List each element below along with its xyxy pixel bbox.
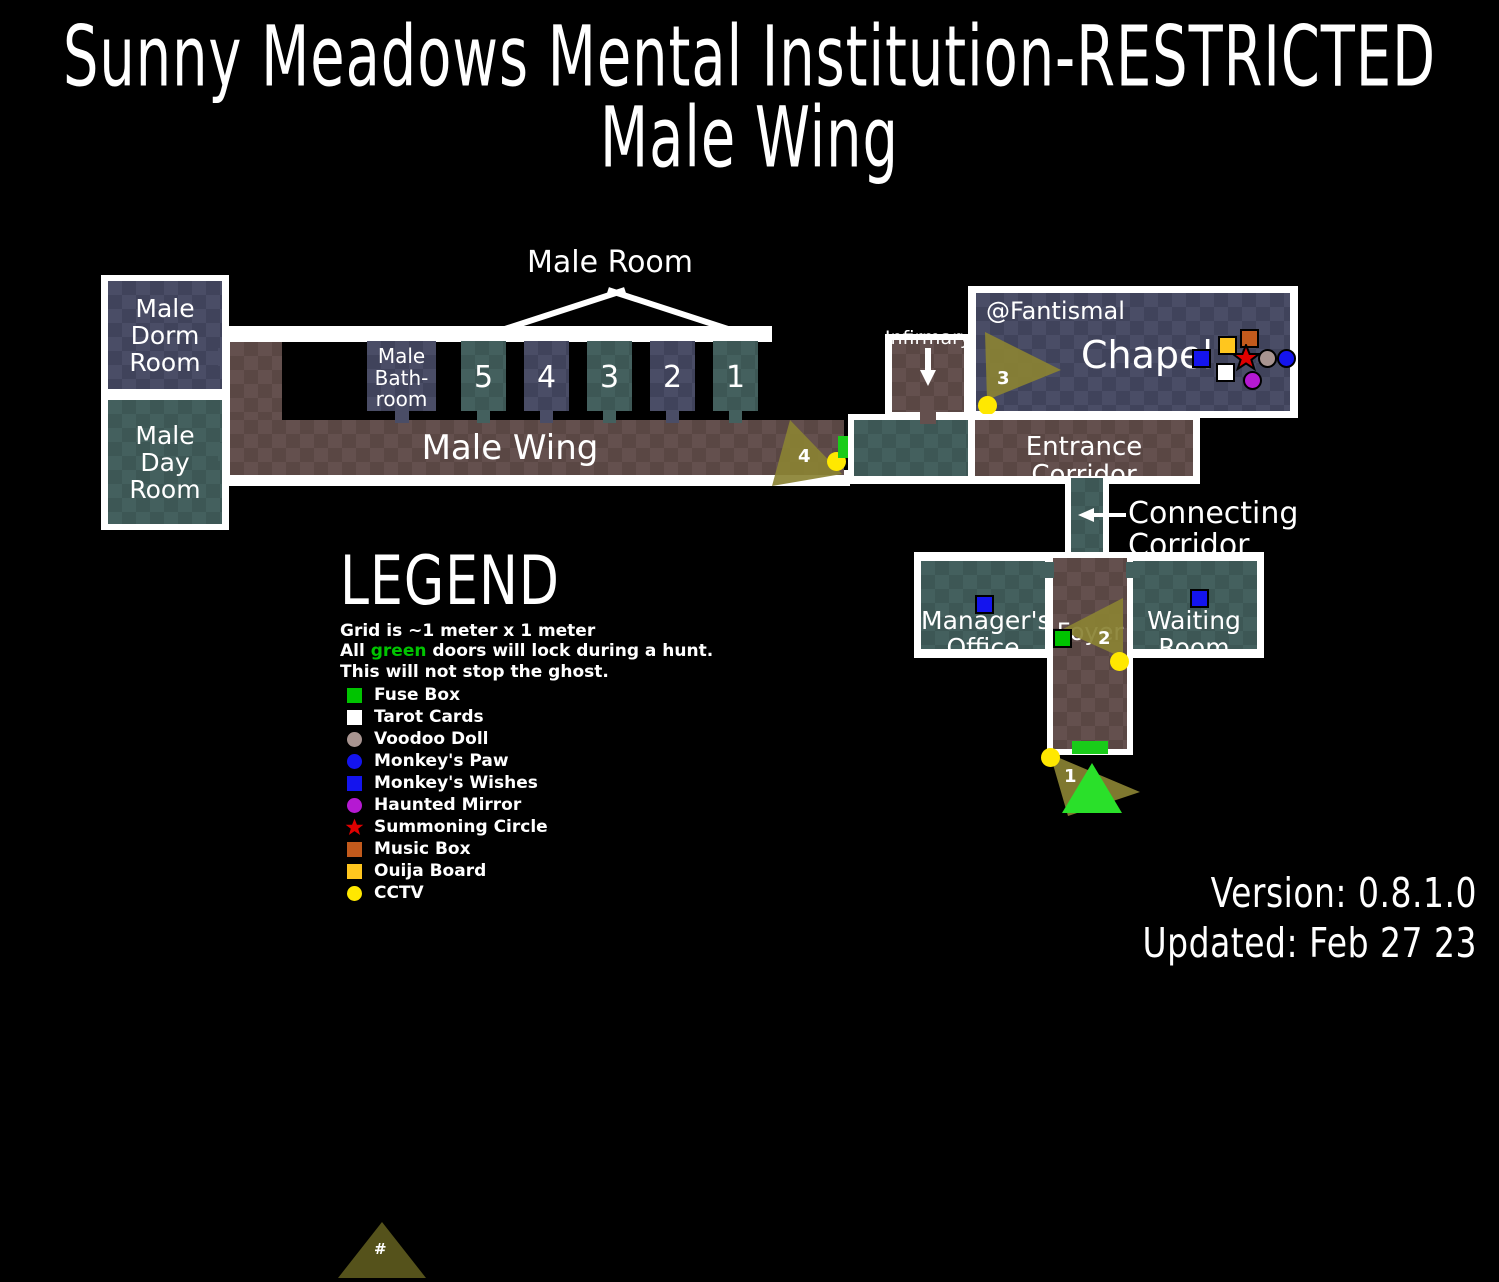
legend-item-label: Tarot Cards [374,707,484,727]
summoning-circle-icon-chapel[interactable] [1232,344,1260,372]
door-male-1[interactable] [729,410,742,423]
room-male-4-number: 4 [524,360,569,395]
room-male-bathroom[interactable]: Male Bath- room [367,341,436,411]
haunted-mirror-icon-chapel[interactable] [1243,371,1262,390]
room-male-3-number: 3 [587,360,632,395]
title-line-2: Male Wing [0,99,1499,179]
legend-note-doors-a: All [340,641,371,661]
room-male-5-number: 5 [461,360,506,395]
legend-item-label: Ouija Board [374,861,486,881]
legend-note-ghost: This will not stop the ghost. [340,662,760,682]
hall-entrance-corridor: Entrance Corridor [975,420,1193,476]
legend-item: Tarot Cards [340,707,760,728]
updated-text: Updated: Feb 27 23 [1143,912,1477,974]
monkeys-paw-icon [340,754,368,769]
infirmary-arrow-icon [918,348,938,388]
cctv-icon-1[interactable] [1041,748,1060,767]
label-line: Dorm [131,321,200,350]
legend-title: LEGEND [340,552,760,613]
legend-item-label: Monkey's Paw [374,751,509,771]
door-foyer-to-managers-office[interactable] [1040,562,1054,578]
male-wing-left-wall [222,326,230,486]
legend-item: Music Box [340,839,760,860]
cctv-icon-2[interactable] [1110,652,1129,671]
legend-item-label: Music Box [374,839,471,859]
legend-item: Ouija Board [340,861,760,882]
label-line: Male [135,294,194,323]
legend-item: CCTV [340,883,760,904]
legend-item-label: Summoning Circle [374,817,548,837]
tarot-cards-icon [340,710,368,725]
monkeys-wishes-icon [340,776,368,791]
label-line: Day [140,448,189,477]
annotation-male-room: Male Room [490,247,730,279]
legend-item-label: Fuse Box [374,685,460,705]
connecting-corridor-arrow-icon [1076,505,1126,525]
label-line: Room [129,475,200,504]
legend-items: Fuse Box Tarot Cards Voodoo Doll Monkey'… [340,685,760,904]
label-line: Male [135,421,194,450]
cctv-icon-3[interactable] [978,396,997,415]
legend-item-label: Haunted Mirror [374,795,521,815]
legend-note-doors-b: doors will lock during a hunt. [426,641,713,661]
haunted-mirror-icon [340,798,368,813]
room-male-2[interactable]: 2 [650,341,695,411]
camera-4-number: 4 [798,446,811,467]
camera-2-number: 2 [1098,628,1111,649]
room-male-1[interactable]: 1 [713,341,758,411]
legend-note-doors-green: green [371,641,427,661]
legend-item: Monkey's Wishes [340,773,760,794]
ouija-board-icon [340,864,368,879]
fuse-box-icon-foyer[interactable] [1053,629,1072,648]
voodoo-doll-icon [340,732,368,747]
door-foyer-to-waiting-room[interactable] [1126,562,1140,578]
van-spawn-icon [1060,763,1124,815]
legend-item: Voodoo Doll [340,729,760,750]
legend-item-label: Monkey's Wishes [374,773,538,793]
hall-male-wing: Male Wing [230,420,844,475]
camera-3-cone [981,326,1065,406]
door-infirmary[interactable] [920,410,936,424]
page-title: Sunny Meadows Mental Institution-RESTRIC… [0,18,1499,158]
legend-item: Summoning Circle [340,817,760,838]
camera-3-number: 3 [997,368,1010,389]
legend: LEGEND Grid is ~1 meter x 1 meter All gr… [340,552,760,964]
label-line: Bath- [375,366,429,390]
music-box-icon [340,842,368,857]
monkeys-paw-icon-chapel[interactable] [1277,349,1296,368]
room-male-dorm-label: Male Dorm Room [108,295,222,376]
door-male-4[interactable] [540,410,553,423]
hall-mid-teal [854,420,972,476]
label-line: Male [378,344,425,368]
summoning-circle-icon [340,818,368,837]
legend-note-doors: All green doors will lock during a hunt. [340,641,760,661]
room-male-5[interactable]: 5 [461,341,506,411]
door-male-2[interactable] [666,410,679,423]
title-line-1: Sunny Meadows Mental Institution-RESTRIC… [0,18,1499,98]
room-male-dorm[interactable]: Male Dorm Room [108,281,222,389]
monkeys-wishes-icon-managers-office[interactable] [975,595,994,614]
room-male-4[interactable]: 4 [524,341,569,411]
fuse-box-icon [340,688,368,703]
camera-cone-icon: # [336,1222,756,1282]
legend-note-grid: Grid is ~1 meter x 1 meter [340,621,760,641]
legend-notes: Grid is ~1 meter x 1 meter All green doo… [340,621,760,682]
legend-item: Haunted Mirror [340,795,760,816]
legend-item: Fuse Box [340,685,760,706]
voodoo-doll-icon-chapel[interactable] [1258,349,1277,368]
door-male-3[interactable] [603,410,616,423]
label-line: room [376,387,428,411]
room-male-2-number: 2 [650,360,695,395]
label-line: Waiting [1147,606,1241,635]
camera-cone-number-placeholder: # [374,1240,387,1258]
room-male-3[interactable]: 3 [587,341,632,411]
hall-male-wing-stub [230,342,282,424]
door-male-5[interactable] [477,410,490,423]
legend-item-label: Voodoo Doll [374,729,488,749]
cctv-icon [340,886,368,901]
room-male-1-number: 1 [713,360,758,395]
monkeys-wishes-icon-waiting-room[interactable] [1190,589,1209,608]
label-line: Room [129,348,200,377]
footer-info: Version: 0.8.1.0 Updated: Feb 27 23 [1143,862,1477,961]
door-bathroom[interactable] [395,410,409,423]
legend-item-label: CCTV [374,883,424,903]
room-male-bathroom-label: Male Bath- room [367,346,436,411]
room-male-day-label: Male Day Room [108,422,222,503]
monkeys-wishes-icon-chapel[interactable] [1192,349,1211,368]
credit-handle: @Fantismal [986,297,1125,325]
room-male-day[interactable]: Male Day Room [108,400,222,524]
legend-item: Monkey's Paw [340,751,760,772]
hall-male-wing-label: Male Wing [230,430,790,467]
